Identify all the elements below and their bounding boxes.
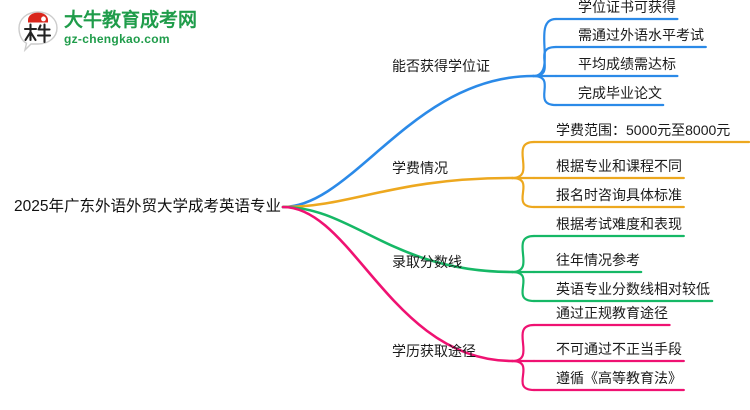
leaf-label-3-2[interactable]: 往年情况参考 — [556, 253, 640, 267]
leaf-label-1-3[interactable]: 平均成绩需达标 — [578, 57, 676, 71]
leaf-label-1-1[interactable]: 学位证书可获得 — [578, 0, 676, 14]
root-node-label[interactable]: 2025年广东外语外贸大学成考英语专业 — [14, 199, 281, 215]
leaf-label-4-2[interactable]: 不可通过不正当手段 — [556, 342, 682, 356]
leaf-label-1-4[interactable]: 完成毕业论文 — [578, 86, 662, 100]
branch-label-4[interactable]: 学历获取途径 — [392, 344, 476, 358]
leaf-label-3-1[interactable]: 根据考试难度和表现 — [556, 217, 682, 231]
branch-label-2[interactable]: 学费情况 — [392, 161, 448, 175]
branch-trunk-2[interactable] — [283, 178, 512, 207]
branch-trunk-4[interactable] — [283, 207, 512, 361]
branch-label-1[interactable]: 能否获得学位证 — [392, 59, 490, 73]
mindmap-canvas: 大牛教育成考网 gz-chengkao.com 2025年广东外语外贸大学成考英… — [0, 0, 750, 410]
leaf-label-1-2[interactable]: 需通过外语水平考试 — [578, 28, 704, 42]
branch-label-3[interactable]: 录取分数线 — [392, 255, 462, 269]
leaf-label-4-1[interactable]: 通过正规教育途径 — [556, 306, 668, 320]
leaf-label-2-2[interactable]: 根据专业和课程不同 — [556, 159, 682, 173]
leaf-label-3-3[interactable]: 英语专业分数线相对较低 — [556, 282, 710, 296]
leaf-label-4-3[interactable]: 遵循《高等教育法》 — [556, 371, 682, 385]
leaf-label-2-1[interactable]: 学费范围：5000元至8000元 — [556, 123, 730, 137]
leaf-label-2-3[interactable]: 报名时咨询具体标准 — [556, 188, 682, 202]
